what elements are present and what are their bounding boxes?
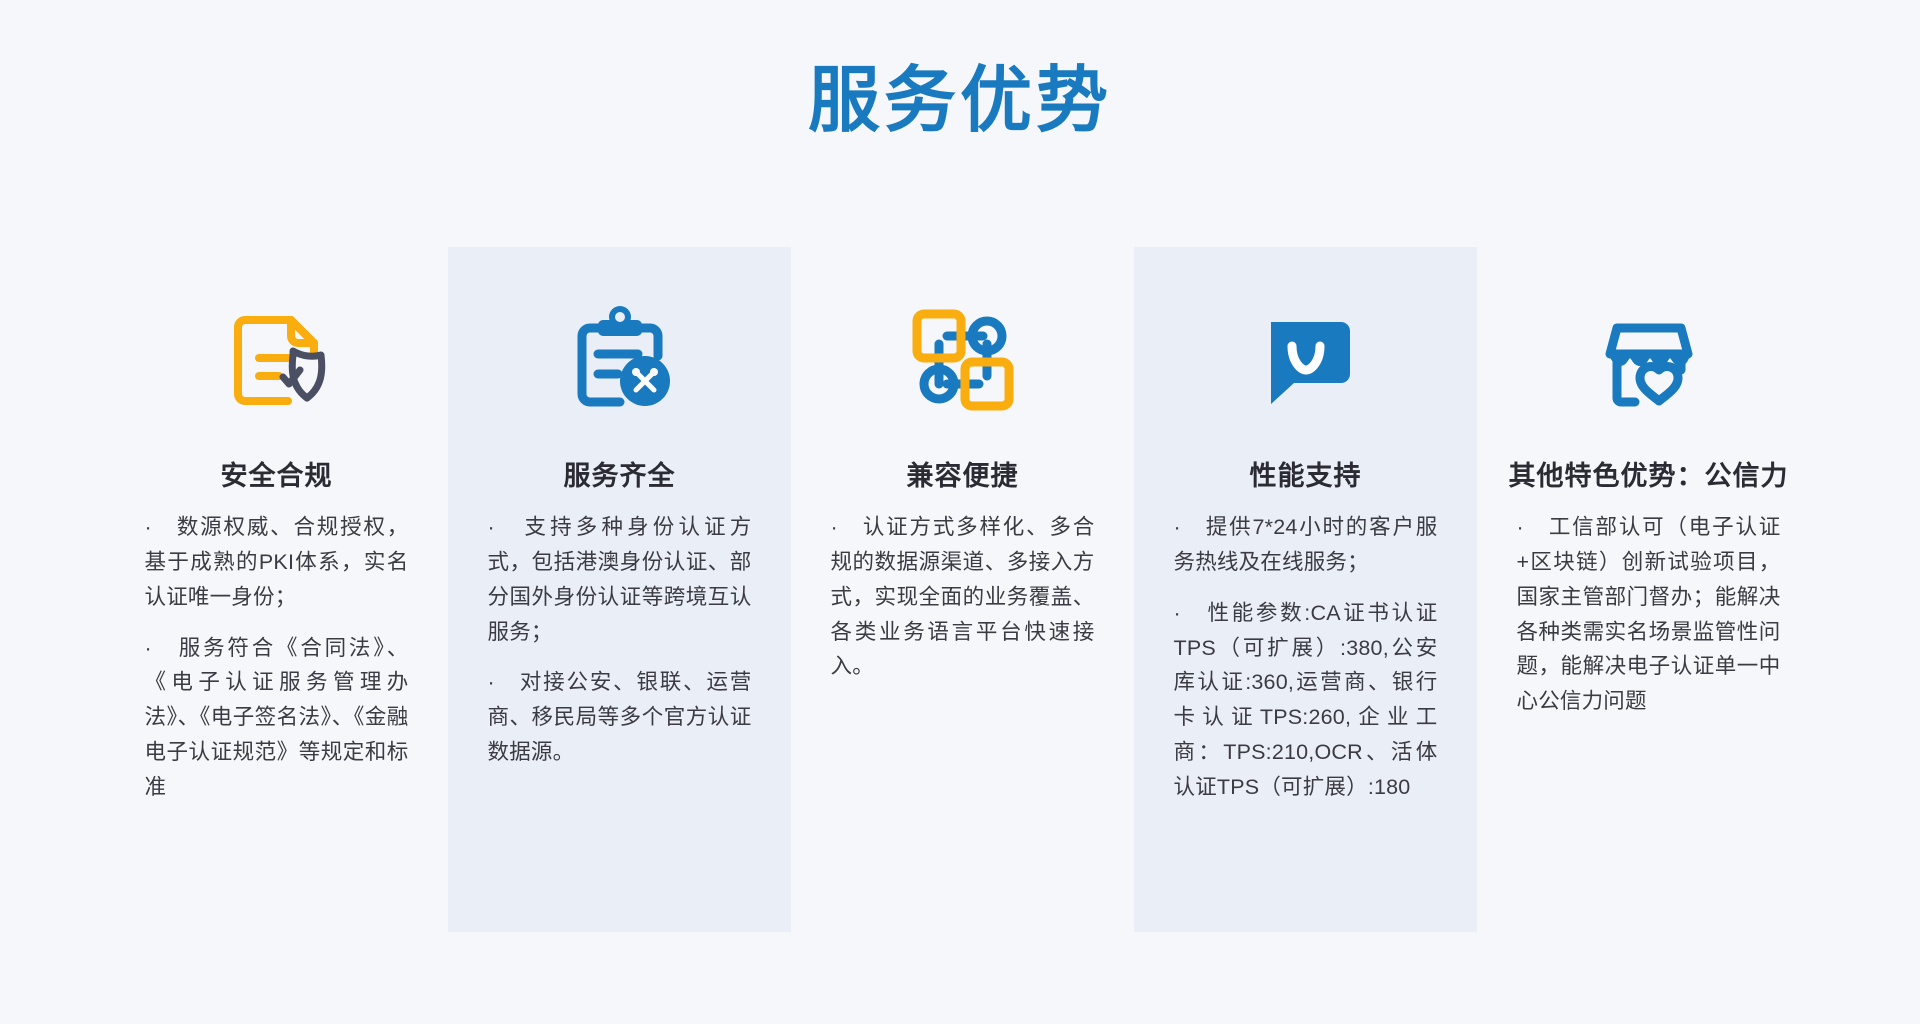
card-title: 其他特色优势：公信力	[1503, 459, 1795, 494]
bullet-item: · 认证方式多样化、多合规的数据源渠道、多接入方式，实现全面的业务覆盖、各类业务…	[831, 510, 1095, 684]
page-title: 服务优势	[0, 62, 1920, 141]
chat-smile-icon	[1244, 285, 1368, 435]
card-body: · 支持多种身份认证方式，包括港澳身份认证、部分国外身份认证等跨境互认服务； ·…	[488, 510, 752, 770]
bullet-item: · 工信部认可（电子认证+区块链）创新试验项目，国家主管部门督办；能解决各种类需…	[1517, 510, 1781, 719]
service-advantages-page: 服务优势 安全合规 · 数源权威、合规授权，基于成熟的PKI体系，实名认证唯一身…	[0, 0, 1920, 1024]
advantage-card-compatibility[interactable]: 兼容便捷 · 认证方式多样化、多合规的数据源渠道、多接入方式，实现全面的业务覆盖…	[791, 247, 1134, 932]
card-title: 性能支持	[1244, 459, 1368, 494]
advantage-card-security[interactable]: 安全合规 · 数源权威、合规授权，基于成熟的PKI体系，实名认证唯一身份； · …	[105, 247, 448, 932]
advantage-card-performance[interactable]: 性能支持 · 提供7*24小时的客户服务热线及在线服务； · 性能参数:CA证书…	[1134, 247, 1477, 932]
card-title: 安全合规	[215, 459, 339, 494]
advantage-cards-container: 安全合规 · 数源权威、合规授权，基于成熟的PKI体系，实名认证唯一身份； · …	[105, 247, 1820, 932]
bullet-item: · 数源权威、合规授权，基于成熟的PKI体系，实名认证唯一身份；	[145, 510, 409, 614]
advantage-card-services[interactable]: 服务齐全 · 支持多种身份认证方式，包括港澳身份认证、部分国外身份认证等跨境互认…	[448, 247, 791, 932]
bullet-item: · 服务符合《合同法》、《电子认证服务管理办法》、《电子签名法》、《金融电子认证…	[145, 631, 409, 805]
card-body: · 工信部认可（电子认证+区块链）创新试验项目，国家主管部门督办；能解决各种类需…	[1517, 510, 1781, 719]
network-nodes-icon	[901, 285, 1025, 435]
bullet-item: · 对接公安、银联、运营商、移民局等多个官方认证数据源。	[488, 665, 752, 769]
clipboard-tools-icon	[558, 285, 682, 435]
bullet-item: · 性能参数:CA证书认证TPS（可扩展）:380,公安库认证:360,运营商、…	[1174, 596, 1438, 805]
card-title: 兼容便捷	[901, 459, 1025, 494]
card-body: · 数源权威、合规授权，基于成熟的PKI体系，实名认证唯一身份； · 服务符合《…	[145, 510, 409, 805]
advantage-card-credibility[interactable]: 其他特色优势：公信力 · 工信部认可（电子认证+区块链）创新试验项目，国家主管部…	[1477, 247, 1820, 932]
bullet-item: · 提供7*24小时的客户服务热线及在线服务；	[1174, 510, 1438, 580]
card-title: 服务齐全	[558, 459, 682, 494]
card-body: · 提供7*24小时的客户服务热线及在线服务； · 性能参数:CA证书认证TPS…	[1174, 510, 1438, 805]
shop-heart-icon	[1587, 285, 1711, 435]
bullet-item: · 支持多种身份认证方式，包括港澳身份认证、部分国外身份认证等跨境互认服务；	[488, 510, 752, 649]
document-shield-icon	[215, 285, 339, 435]
card-body: · 认证方式多样化、多合规的数据源渠道、多接入方式，实现全面的业务覆盖、各类业务…	[831, 510, 1095, 684]
